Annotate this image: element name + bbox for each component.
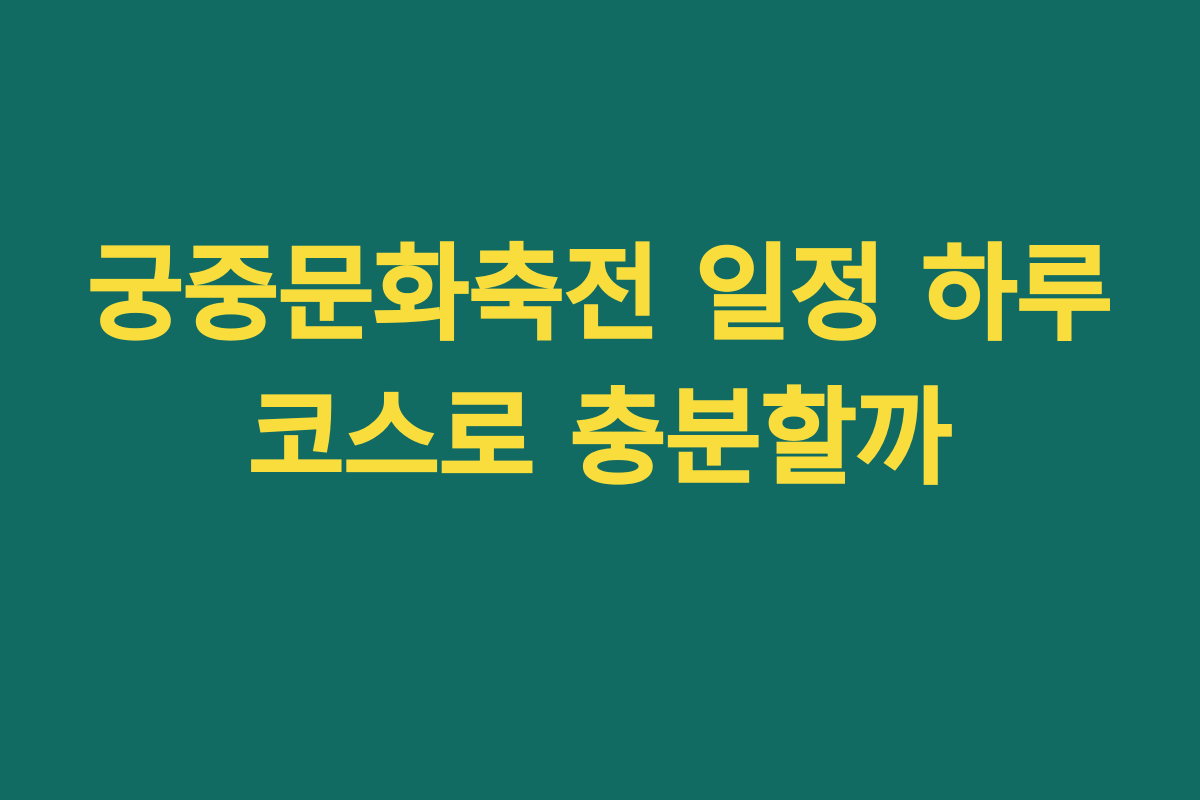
title-line-1: 궁중문화축전 일정 하루 <box>88 223 1112 367</box>
title-block: 궁중문화축전 일정 하루 코스로 충분할까 <box>0 0 1200 800</box>
title-card: 궁중문화축전 일정 하루 코스로 충분할까 <box>0 0 1200 800</box>
title-line-2: 코스로 충분할까 <box>249 367 952 511</box>
